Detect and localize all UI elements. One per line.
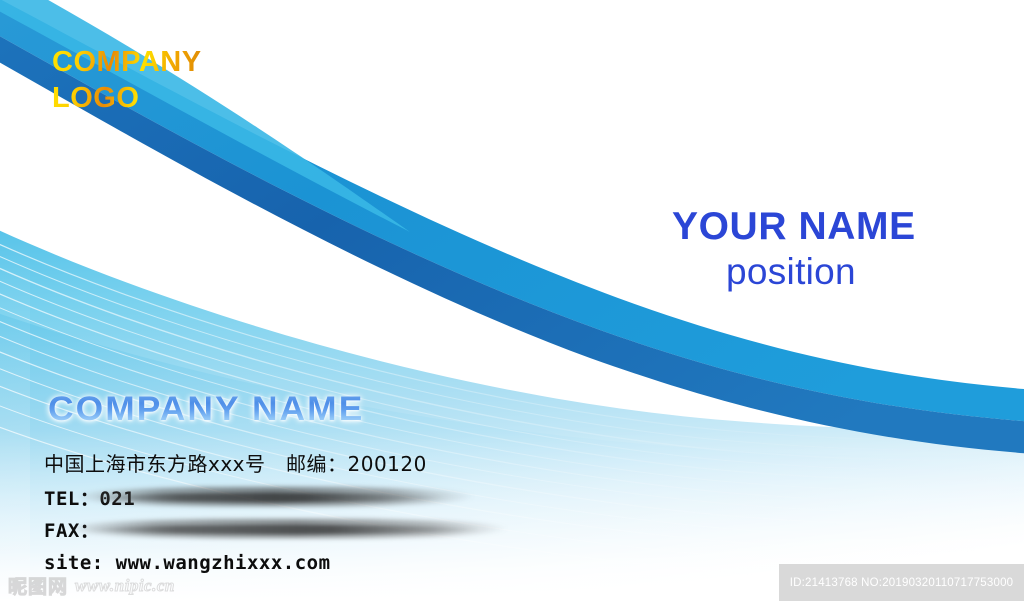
image-id-bar: ID:21413768 NO:20190320110717753000 [779,564,1024,601]
accent-stripe-upper [0,0,410,232]
watermark-logo-text: 昵图网 [8,572,68,599]
company-logo-text: COMPANY LOGO [52,44,202,116]
person-position: position [726,250,856,294]
company-name-title: COMPANY NAME [48,390,364,428]
contact-website: site: www.wangzhixxx.com [44,552,331,574]
image-id-text: ID:21413768 NO:20190320110717753000 [790,577,1014,589]
contact-address: 中国上海市东方路xxx号 邮编：200120 [44,448,427,477]
business-card-canvas: COMPANY LOGO YOUR NAME position COMPANY … [0,0,1024,601]
person-name: YOUR NAME [672,205,916,249]
watermark-url-text: www.nipic.cn [75,576,175,596]
contact-fax: FAX： [44,516,99,543]
contact-telephone: TEL：021 [44,484,135,511]
stock-site-watermark: 昵图网 www.nipic.cn [8,572,175,599]
